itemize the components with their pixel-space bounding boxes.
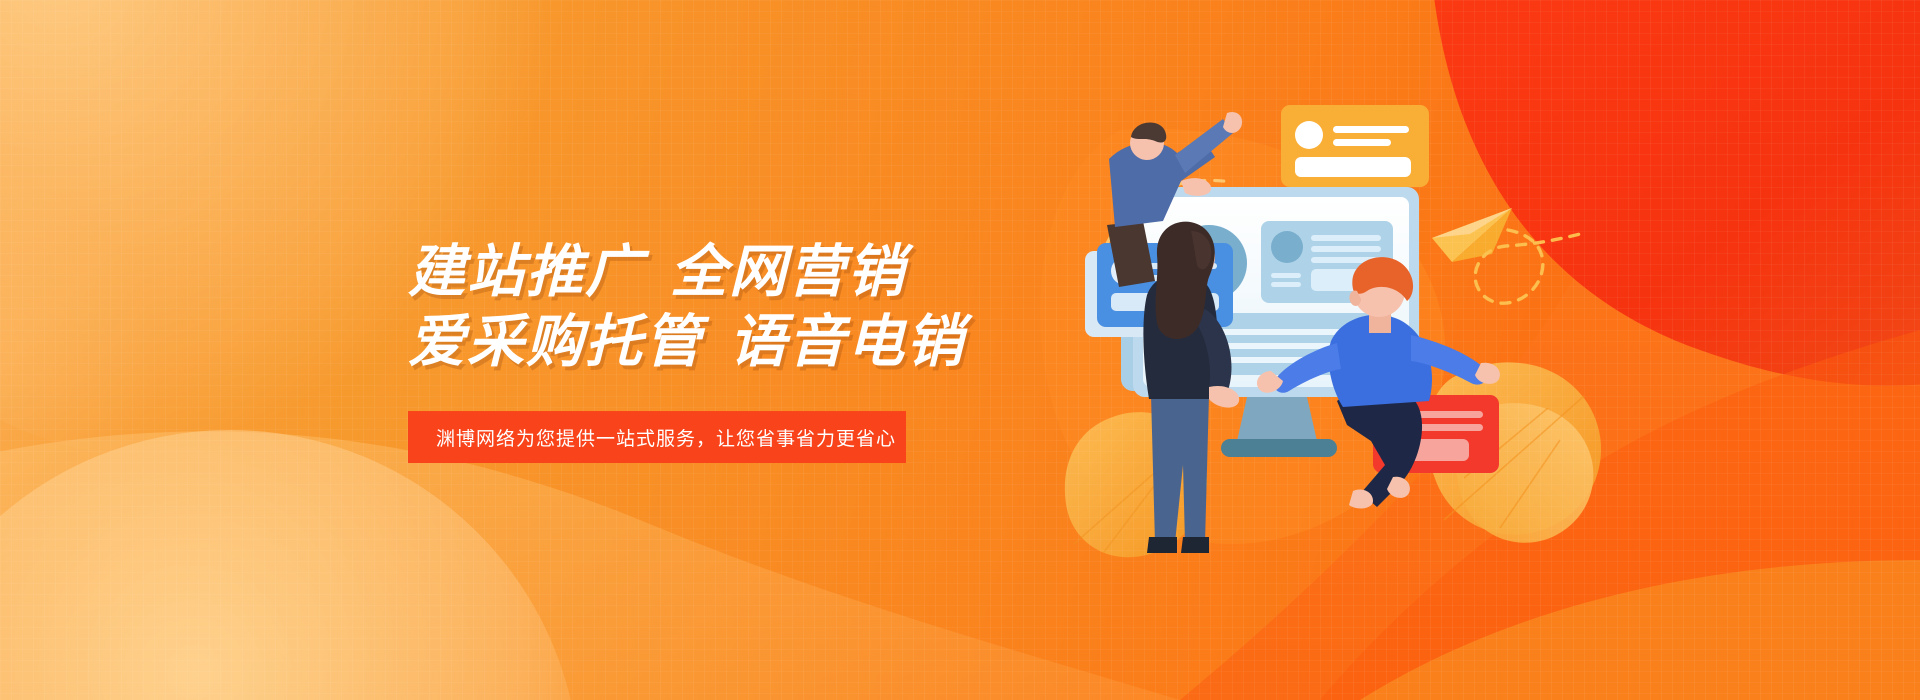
headline-line-1-part-1: 建站推广 <box>408 240 644 304</box>
screen-panel-line-2 <box>1311 246 1381 252</box>
tagline-ribbon: 渊博网络为您提供一站式服务，让您省事省力更省心 <box>408 411 906 463</box>
screen-panel-line-5 <box>1271 282 1301 287</box>
headline-line-2-part-1: 爱采购托管 <box>408 310 703 374</box>
screen-panel-line-4 <box>1271 273 1301 278</box>
promo-banner: 建站推广全网营销 爱采购托管语音电销 渊博网络为您提供一站式服务，让您省事省力更… <box>0 0 1920 700</box>
headline-line-1: 建站推广全网营销 <box>408 238 1168 308</box>
yellow-card-line-2 <box>1333 139 1391 146</box>
headline-line-1-part-2: 全网营销 <box>670 240 906 304</box>
screen-panel-line-1 <box>1311 235 1381 241</box>
yellow-card-avatar <box>1295 121 1323 149</box>
banner-copy: 建站推广全网营销 爱采购托管语音电销 渊博网络为您提供一站式服务，让您省事省力更… <box>408 238 1168 463</box>
headline-line-2: 爱采购托管语音电销 <box>408 308 1168 378</box>
hero-illustration <box>1085 95 1505 615</box>
woman-shoe-left <box>1147 537 1177 553</box>
ribbon-text: 渊博网络为您提供一站式服务，让您省事省力更省心 <box>408 424 896 451</box>
monitor-neck <box>1237 397 1317 441</box>
man-reaching-hand <box>1223 112 1242 133</box>
woman-pants <box>1151 395 1209 543</box>
man-reaching-hand-lower <box>1181 178 1211 196</box>
red-blob-main <box>1432 0 1920 386</box>
illustration-svg <box>1085 95 1505 615</box>
screen-panel-avatar <box>1271 231 1303 263</box>
notification-card-yellow <box>1281 105 1429 187</box>
yellow-card-line-1 <box>1333 126 1409 133</box>
yellow-card-button <box>1295 157 1411 177</box>
woman-shoe-right <box>1181 537 1209 553</box>
monitor-base <box>1221 439 1337 457</box>
headline-line-2-part-2: 语音电销 <box>729 310 965 374</box>
